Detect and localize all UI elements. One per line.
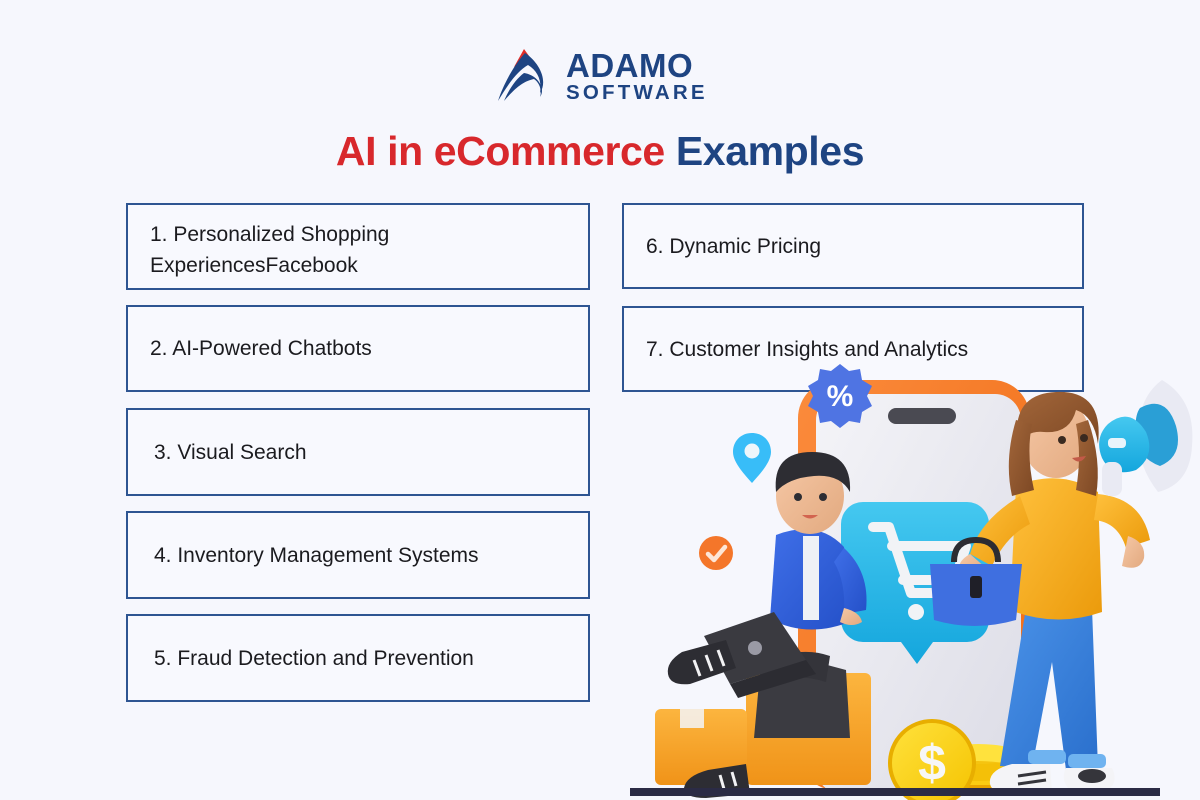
list-item-2[interactable]: 2. AI-Powered Chatbots <box>126 305 590 392</box>
brand-name: ADAMO <box>566 49 708 82</box>
list-item-1-line1: 1. Personalized Shopping <box>150 219 389 250</box>
check-circle-icon <box>699 536 733 570</box>
brand-logo: ADAMO SOFTWARE <box>494 44 706 106</box>
infographic-canvas: ADAMO SOFTWARE AI in eCommerce Examples … <box>0 0 1200 800</box>
page-title-red: AI in eCommerce <box>336 128 665 174</box>
svg-text:$: $ <box>918 735 946 791</box>
list-item-5-label: 5. Fraud Detection and Prevention <box>154 643 474 674</box>
brand-subtitle: SOFTWARE <box>566 83 708 104</box>
list-item-3-label: 3. Visual Search <box>154 437 307 468</box>
page-title-blue: Examples <box>676 128 864 174</box>
location-pin-icon <box>733 433 771 483</box>
list-item-3[interactable]: 3. Visual Search <box>126 408 590 496</box>
sneaker-icon <box>668 640 736 684</box>
page-title: AI in eCommerce Examples <box>0 128 1200 175</box>
list-item-1-line2: ExperiencesFacebook <box>150 250 389 281</box>
list-item-1[interactable]: 1. Personalized Shopping ExperiencesFace… <box>126 203 590 290</box>
list-item-5[interactable]: 5. Fraud Detection and Prevention <box>126 614 590 702</box>
list-item-4-label: 4. Inventory Management Systems <box>154 540 479 571</box>
ground-line <box>630 788 1160 796</box>
list-item-6-label: 6. Dynamic Pricing <box>646 231 821 262</box>
list-item-2-label: 2. AI-Powered Chatbots <box>150 333 372 364</box>
list-item-6[interactable]: 6. Dynamic Pricing <box>622 203 1084 289</box>
svg-text:%: % <box>827 380 854 413</box>
megaphone-icon <box>1099 380 1192 496</box>
list-item-4[interactable]: 4. Inventory Management Systems <box>126 511 590 599</box>
adamo-a-swoosh-logo-icon <box>494 45 556 105</box>
ecommerce-3d-illustration: % <box>620 360 1200 800</box>
